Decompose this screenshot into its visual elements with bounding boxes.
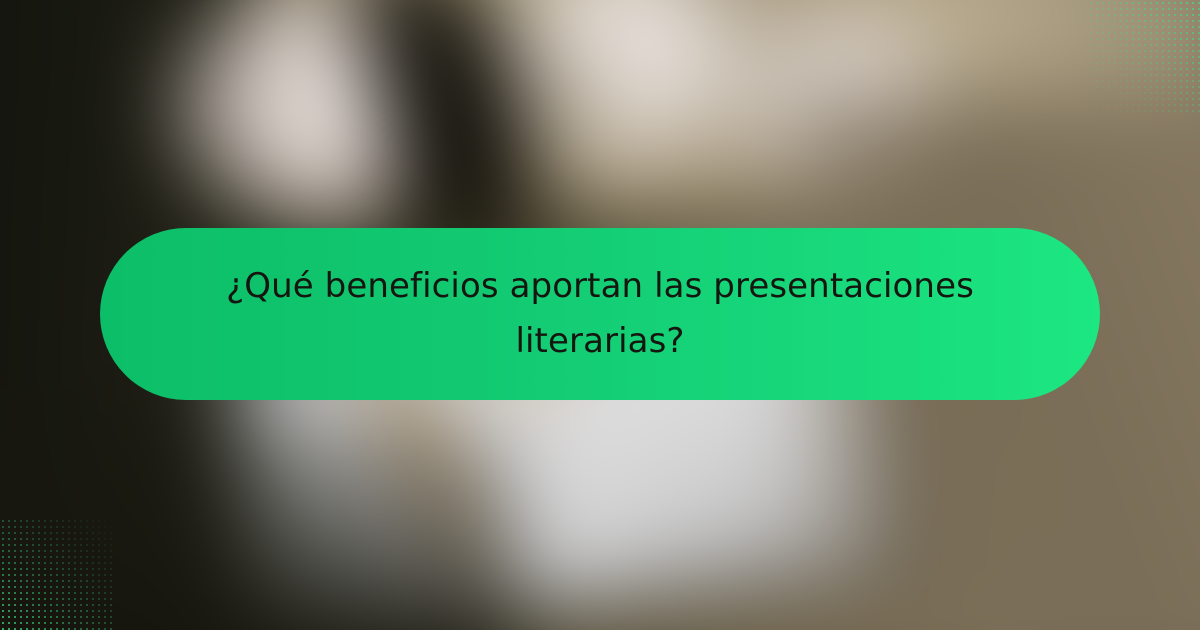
background-question-mark-center-shadow <box>532 30 627 150</box>
page-title: ¿Qué beneficios aportan las presentacion… <box>220 259 980 369</box>
dot-grid-top-right-icon <box>1088 0 1200 112</box>
dot-grid-bottom-left-icon <box>0 518 112 630</box>
headline-pill: ¿Qué beneficios aportan las presentacion… <box>100 228 1100 400</box>
share-card: ¿Qué beneficios aportan las presentacion… <box>0 0 1200 630</box>
